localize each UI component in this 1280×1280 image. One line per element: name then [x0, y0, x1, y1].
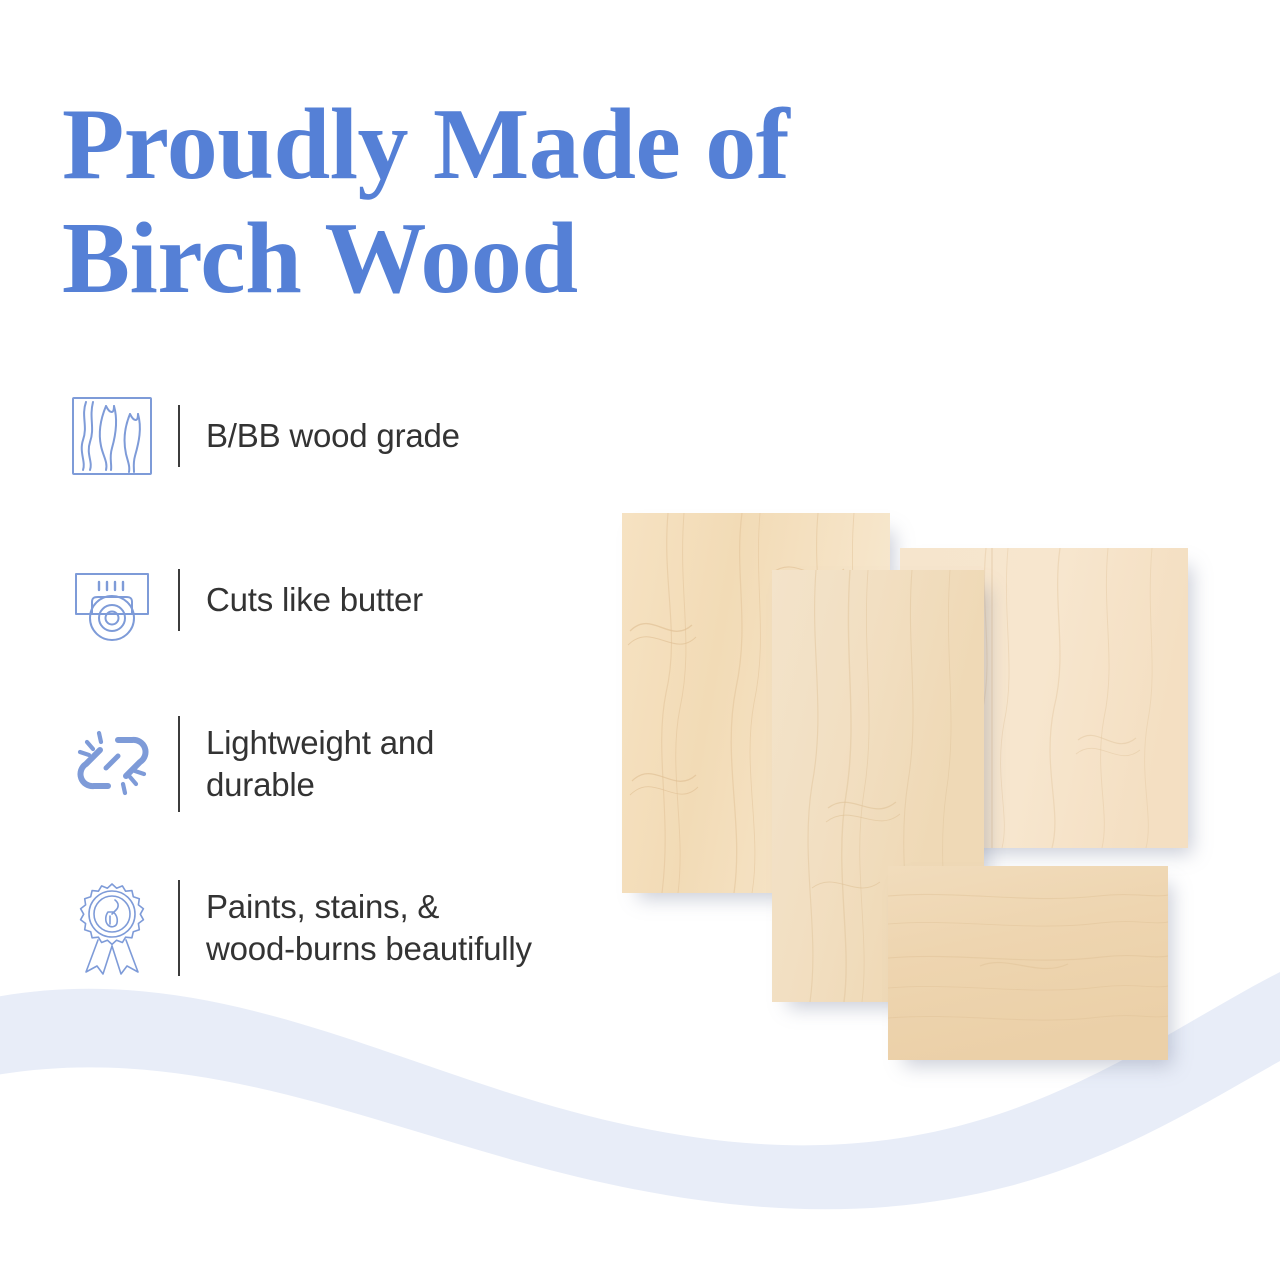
feature-label-line-1: Lightweight and	[206, 722, 434, 764]
headline-line-2: Birch Wood	[62, 202, 922, 316]
feature-divider	[178, 880, 180, 976]
feature-label-line-2: wood-burns beautifully	[206, 928, 532, 970]
chain-link-sparkle-icon	[62, 714, 162, 814]
feature-label: B/BB wood grade	[206, 415, 460, 457]
feature-item-paints-stains: Paints, stains, & wood-burns beautifully	[62, 878, 682, 978]
feature-list: B/BB wood grade	[62, 386, 682, 978]
feature-label-line-2: durable	[206, 764, 434, 806]
birch-panel-front	[888, 866, 1168, 1060]
feature-divider	[178, 716, 180, 812]
marketing-banner: Proudly Made of Birch Wood	[0, 0, 1280, 1280]
wood-grain-texture	[888, 866, 1168, 1060]
feature-label: Cuts like butter	[206, 579, 423, 621]
feature-divider	[178, 569, 180, 631]
page-title: Proudly Made of Birch Wood	[62, 88, 922, 316]
feature-label: Lightweight and durable	[206, 722, 434, 806]
award-ribbon-icon	[62, 878, 162, 978]
feature-item-wood-grade: B/BB wood grade	[62, 386, 682, 486]
laser-cutter-icon	[62, 550, 162, 650]
feature-label: Paints, stains, & wood-burns beautifully	[206, 886, 532, 970]
headline-line-1: Proudly Made of	[62, 88, 922, 202]
feature-item-lightweight-durable: Lightweight and durable	[62, 714, 682, 814]
feature-divider	[178, 405, 180, 467]
feature-item-cuts-like-butter: Cuts like butter	[62, 550, 682, 650]
feature-label-line-1: Paints, stains, &	[206, 886, 532, 928]
wood-grain-icon	[62, 386, 162, 486]
